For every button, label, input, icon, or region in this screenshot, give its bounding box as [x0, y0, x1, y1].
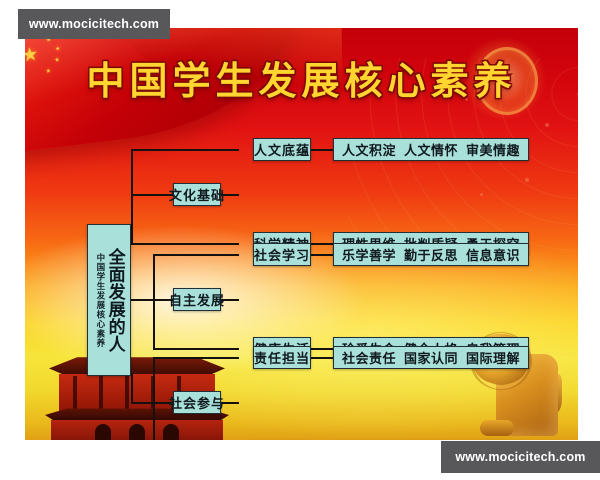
detail-item: 乐学善学	[338, 245, 400, 264]
detail-item: 勤于反思	[400, 245, 462, 264]
connector-line	[311, 254, 333, 256]
detail-node-social-learning[interactable]: 乐学善学 勤于反思 信息意识	[333, 243, 529, 266]
connector-line	[153, 254, 239, 256]
connector-line	[225, 149, 239, 151]
watermark-bottom-right: www.mocicitech.com	[441, 441, 600, 473]
branch-node-autonomous-development[interactable]: 自主发展	[173, 288, 221, 311]
sub-node-responsibility[interactable]: 责任担当	[253, 346, 311, 369]
connector-line	[311, 149, 333, 151]
watermark-top-left: www.mocicitech.com	[18, 9, 170, 39]
branch-node-cultural-foundation[interactable]: 文化基础	[173, 183, 221, 206]
connector-line	[153, 357, 155, 440]
connector-line	[131, 243, 227, 245]
sub-node-social-learning[interactable]: 社会学习	[253, 243, 311, 266]
detail-item: 信息意识	[462, 245, 524, 264]
detail-item: 国际理解	[462, 348, 524, 367]
connector-line	[311, 348, 333, 350]
connector-line	[131, 149, 133, 245]
screenshot-canvas: ★ ★ ★ ★ ★ ★	[0, 0, 600, 480]
detail-node-responsibility[interactable]: 社会责任 国家认同 国际理解	[333, 346, 529, 369]
connector-line	[153, 348, 239, 350]
connector-line	[131, 149, 227, 151]
detail-item: 社会责任	[338, 348, 400, 367]
connector-line	[131, 194, 157, 196]
root-node-label-secondary: 中国学生发展核心素养	[95, 253, 104, 348]
connector-line	[225, 243, 239, 245]
connector-line	[131, 374, 133, 404]
detail-item: 人文情怀	[400, 140, 462, 159]
root-node-label-primary: 全面发展的人	[105, 248, 123, 353]
detail-node-humanistic-heritage[interactable]: 人文积淀 人文情怀 审美情趣	[333, 138, 529, 161]
poster-image: ★ ★ ★ ★ ★ ★	[25, 28, 578, 440]
branch-node-social-participation[interactable]: 社会参与	[173, 391, 221, 414]
core-competency-diagram: 全面发展的人 中国学生发展核心素养 文化基础 自主发展 社会参与 人文底蕴 科学…	[25, 28, 578, 440]
connector-line	[311, 357, 333, 359]
detail-item: 人文积淀	[338, 140, 400, 159]
sub-node-humanistic-heritage[interactable]: 人文底蕴	[253, 138, 311, 161]
detail-item: 审美情趣	[462, 140, 524, 159]
connector-line	[153, 357, 239, 359]
detail-item: 国家认同	[400, 348, 462, 367]
connector-line	[311, 243, 333, 245]
connector-line	[153, 254, 155, 350]
root-node-overall-development[interactable]: 全面发展的人 中国学生发展核心素养	[87, 224, 131, 376]
